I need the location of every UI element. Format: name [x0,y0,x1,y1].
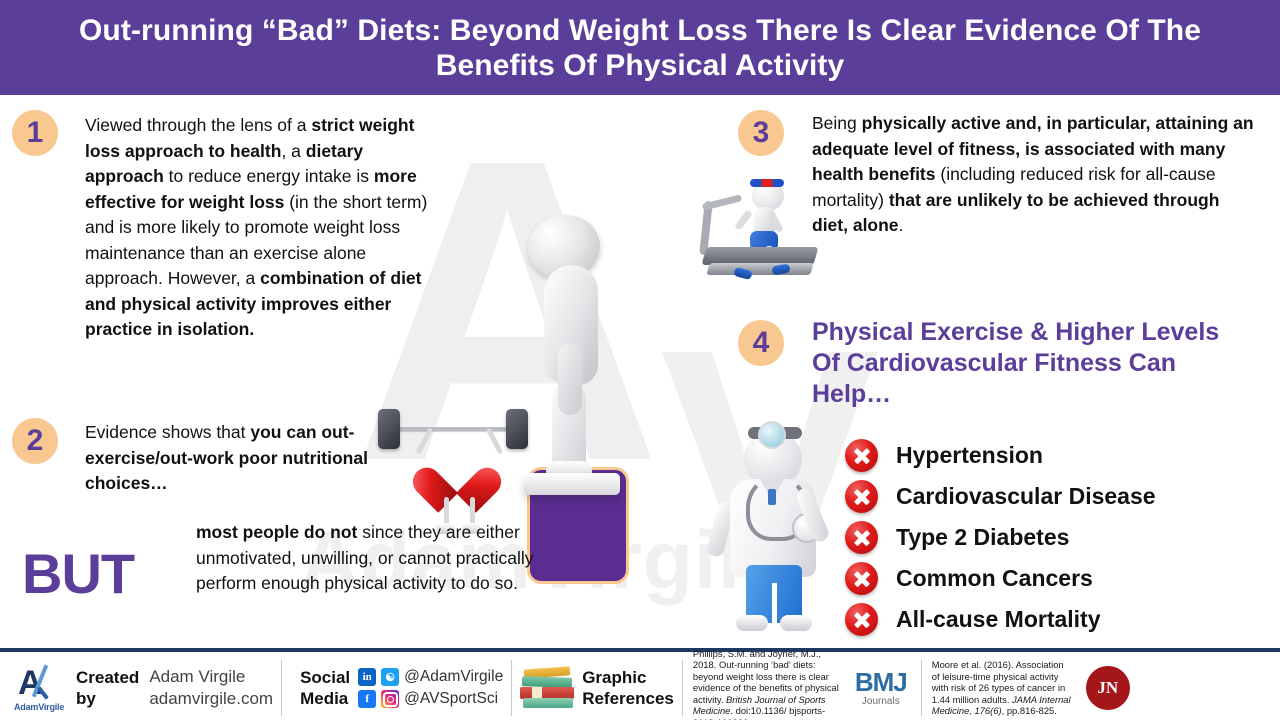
point-heading-4: Physical Exercise & Higher Levels Of Car… [812,317,1252,410]
reference-entry-bmj: Phillips, S.M. and Joyner, M.J., 2018. O… [683,652,921,720]
heart-icon [430,449,484,499]
red-x-icon [845,562,878,595]
instagram-icon[interactable] [381,690,399,708]
footer-social-media-block: Social Media in ☯ @AdamVirgile f @AVSpor… [282,652,511,720]
condition-row: Type 2 Diabetes [845,517,1156,558]
text-plain: Viewed through the lens of a [85,115,311,135]
logo-wordmark: AdamVirgile [14,702,64,712]
reference-doi-text: , pp.816-825. [1002,705,1057,716]
reference-text-moore: Moore et al. (2016). Association of leis… [932,659,1072,716]
footer-bar: A AdamVirgile Created by Adam Virgile ad… [0,648,1280,720]
author-name: Adam Virgile [149,666,273,688]
created-by-label-line2: by [76,688,139,709]
reference-text-phillips: Phillips, S.M. and Joyner, M.J., 2018. O… [693,648,843,720]
barbell-plate-right [506,409,528,449]
heart-arm-right [486,427,504,454]
twitter-icon[interactable]: ☯ [381,668,399,686]
point-text-2: Evidence shows that you can out-exercise… [85,420,385,497]
author-website[interactable]: adamvirgile.com [149,688,273,710]
condition-label: Type 2 Diabetes [896,524,1069,551]
condition-label: Common Cancers [896,565,1093,592]
content-area: 1 Viewed through the lens of a strict we… [0,95,1280,648]
point-text-3: Being physically active and, in particul… [812,111,1257,239]
handle-adamvirgile[interactable]: @AdamVirgile [404,668,503,686]
reference-entry-jama: Moore et al. (2016). Association of leis… [922,652,1138,720]
facebook-icon[interactable]: f [358,690,376,708]
treadmill-base [706,263,813,275]
condition-label: Hypertension [896,442,1043,469]
point-number-3: 3 [738,110,784,156]
condition-row: Common Cancers [845,558,1156,599]
text-emphasis: most people do not [196,522,357,542]
graphic-references-label-line1: Graphic [582,667,674,688]
text-plain: to reduce energy intake is [164,166,374,186]
point-number-2: 2 [12,418,58,464]
books-stack-icon [520,666,576,710]
point-text-1: Viewed through the lens of a strict weig… [85,113,435,343]
jama-network-logo: JN [1086,666,1130,710]
barbell-bar [396,427,516,431]
condition-label: Cardiovascular Disease [896,483,1156,510]
graphic-references-label-line2: References [582,688,674,709]
linkedin-icon[interactable]: in [358,668,376,686]
condition-row: Hypertension [845,435,1156,476]
social-label-line1: Social [300,667,350,688]
doctor-head-mirror-icon [758,421,786,449]
runner-headband [750,179,784,187]
text-plain: Evidence shows that [85,422,250,442]
jn-logo-text: JN [1097,678,1118,698]
point-number-4: 4 [738,320,784,366]
social-handles-list: in ☯ @AdamVirgile f @AVSportSci [358,668,503,708]
figure-arm [558,343,582,415]
footer-graphic-references-block: Graphic References [512,652,682,720]
red-x-icon [845,521,878,554]
text-plain: Being [812,113,862,133]
footer-created-by-block: A AdamVirgile Created by Adam Virgile ad… [0,652,281,720]
bmj-logo-subtext: Journals [862,695,900,708]
condition-row: Cardiovascular Disease [845,476,1156,517]
doctor-shoe-right [780,615,812,631]
condition-row: All-cause Mortality [845,599,1156,640]
social-row-1: in ☯ @AdamVirgile [358,668,503,686]
handle-avsportsci[interactable]: @AVSportSci [404,690,498,708]
runner-arm-back [734,209,753,231]
text-plain: , a [281,141,305,161]
condition-label: All-cause Mortality [896,606,1101,633]
point-number-1: 1 [12,110,58,156]
bmj-journals-logo: BMJ Journals [855,669,907,708]
red-x-icon [845,603,878,636]
social-label-line2: Media [300,688,350,709]
infographic-page: Out-running “Bad” Diets: Beyond Weight L… [0,0,1280,720]
but-emphasis-word: BUT [22,545,134,603]
but-paragraph-text: most people do not since they are either… [196,520,586,597]
created-by-label-line1: Created [76,667,139,688]
treadmill-runner-illustration [700,165,830,295]
red-x-icon [845,439,878,472]
social-row-2: f @AVSportSci [358,690,503,708]
adamvirgile-logo-icon: A AdamVirgile [14,664,68,712]
red-x-icon [845,480,878,513]
doctor-shoe-left [736,615,768,631]
treadmill-handle [702,194,743,210]
condition-list: HypertensionCardiovascular DiseaseType 2… [845,435,1156,640]
text-plain: . [899,215,904,235]
bmj-logo-text: BMJ [855,669,907,695]
